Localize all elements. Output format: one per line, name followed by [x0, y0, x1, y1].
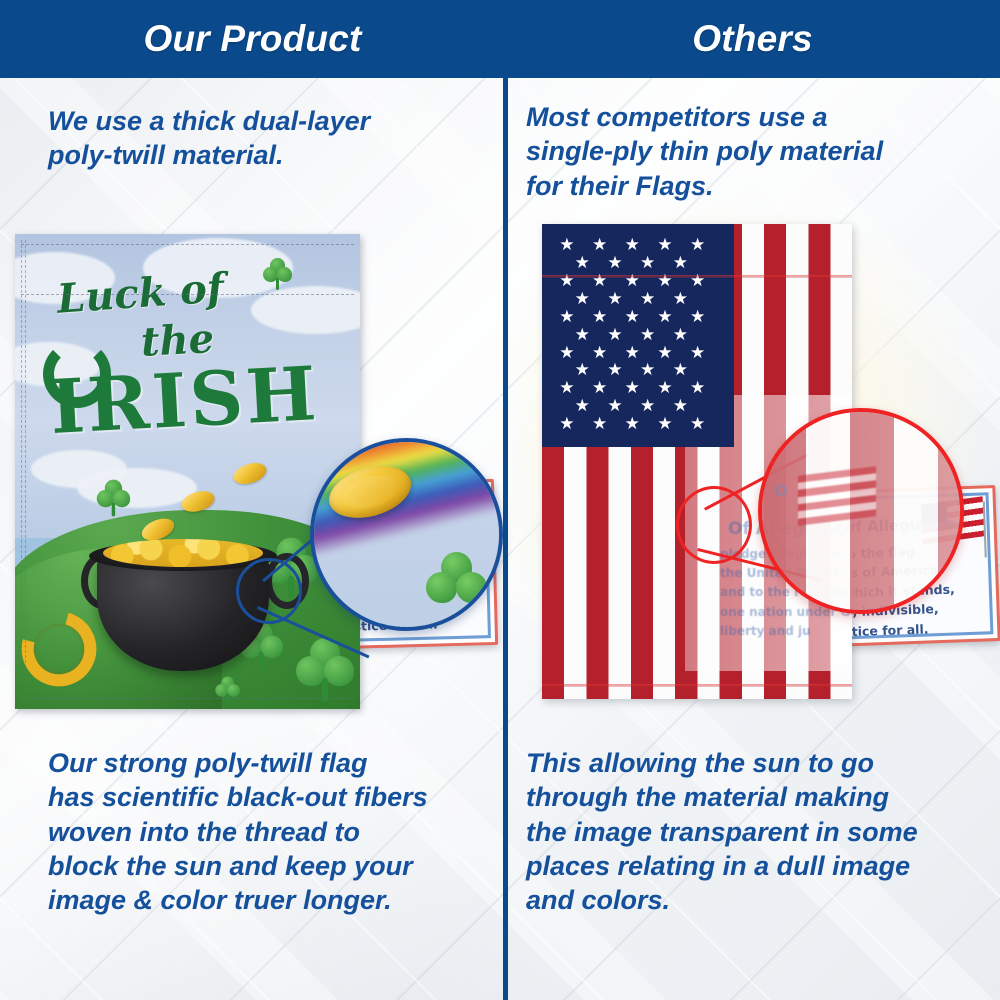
- stitch-line: [21, 244, 354, 245]
- star-icon: ★: [575, 398, 590, 415]
- star-icon: ★: [607, 291, 622, 308]
- star-icon: ★: [673, 255, 688, 272]
- star-icon: ★: [559, 345, 574, 362]
- magnifier-detail-circle: O: [758, 408, 964, 614]
- star-icon: ★: [625, 380, 640, 397]
- stitch-line: [21, 294, 354, 295]
- star-icon: ★: [607, 327, 622, 344]
- flag-seam: [542, 684, 852, 687]
- magnifier-source-circle: [236, 558, 302, 624]
- star-icon: ★: [625, 416, 640, 433]
- star-icon: ★: [690, 309, 705, 326]
- column-others: Most competitors use a single-ply thin p…: [508, 78, 1000, 1000]
- flag-canton: ★ ★ ★ ★ ★ ★ ★ ★ ★ ★ ★ ★ ★ ★ ★ ★ ★: [542, 224, 734, 447]
- star-icon: ★: [592, 309, 607, 326]
- star-icon: ★: [625, 237, 640, 254]
- star-icon: ★: [592, 345, 607, 362]
- left-image-stage: to the flag es of America which it stand…: [0, 228, 503, 738]
- stitch-line: [21, 698, 354, 699]
- header-cell-others: Others: [505, 0, 1000, 78]
- star-icon: ★: [625, 345, 640, 362]
- magnifier-shamrock-icon: [426, 552, 488, 618]
- star-icon: ★: [575, 291, 590, 308]
- star-icon: ★: [690, 380, 705, 397]
- star-icon: ★: [673, 291, 688, 308]
- right-bottom-blurb: This allowing the sun to go through the …: [526, 746, 1000, 917]
- star-icon: ★: [690, 345, 705, 362]
- star-icon: ★: [559, 237, 574, 254]
- right-image-stage: Of Allegiance to the flag es of America …: [508, 218, 1000, 738]
- star-icon: ★: [657, 309, 672, 326]
- star-icon: ★: [559, 309, 574, 326]
- stitch-line: [21, 240, 22, 703]
- horseshoe-icon: [43, 340, 111, 408]
- star-icon: ★: [559, 416, 574, 433]
- header-bar: Our Product Others: [0, 0, 1000, 78]
- right-top-blurb: Most competitors use a single-ply thin p…: [526, 100, 996, 203]
- star-icon: ★: [575, 327, 590, 344]
- star-icon: ★: [657, 380, 672, 397]
- star-icon: ★: [640, 327, 655, 344]
- star-icon: ★: [673, 398, 688, 415]
- star-icon: ★: [559, 380, 574, 397]
- star-icon: ★: [690, 416, 705, 433]
- left-bottom-blurb: Our strong poly-twill flag has scientifi…: [48, 746, 493, 917]
- irish-garden-flag-image: Luck of the IRISH: [15, 234, 360, 709]
- shamrock-icon: [215, 676, 241, 703]
- star-icon: ★: [607, 398, 622, 415]
- flag-seam: [542, 275, 852, 278]
- star-icon: ★: [640, 398, 655, 415]
- our-product-title: Our Product: [143, 18, 361, 60]
- star-icon: ★: [673, 362, 688, 379]
- star-icon: ★: [575, 255, 590, 272]
- star-icon: ★: [607, 255, 622, 272]
- left-top-blurb: We use a thick dual-layer poly-twill mat…: [48, 104, 478, 173]
- star-icon: ★: [592, 380, 607, 397]
- magnifier-detail-circle: [310, 438, 503, 631]
- star-icon: ★: [657, 416, 672, 433]
- star-icon: ★: [657, 345, 672, 362]
- star-icon: ★: [673, 327, 688, 344]
- stitch-line: [25, 240, 26, 703]
- column-divider: [503, 78, 508, 1000]
- star-icon: ★: [575, 362, 590, 379]
- column-our-product: We use a thick dual-layer poly-twill mat…: [0, 78, 503, 1000]
- star-icon: ★: [640, 255, 655, 272]
- header-cell-our-product: Our Product: [0, 0, 505, 78]
- star-icon: ★: [607, 362, 622, 379]
- star-icon: ★: [625, 309, 640, 326]
- star-icon: ★: [640, 362, 655, 379]
- magnifier-source-circle: [676, 486, 752, 564]
- magnifier-bleed-text: O: [774, 479, 960, 598]
- shamrock-icon: [263, 258, 293, 290]
- comparison-infographic: Our Product Others We use a thick dual-l…: [0, 0, 1000, 1000]
- star-icon: ★: [690, 237, 705, 254]
- star-icon: ★: [592, 416, 607, 433]
- star-icon: ★: [640, 291, 655, 308]
- gold-coins-pile: [103, 539, 263, 567]
- others-title: Others: [692, 18, 812, 60]
- star-icon: ★: [657, 237, 672, 254]
- star-icon: ★: [592, 237, 607, 254]
- shamrock-icon: [97, 480, 132, 517]
